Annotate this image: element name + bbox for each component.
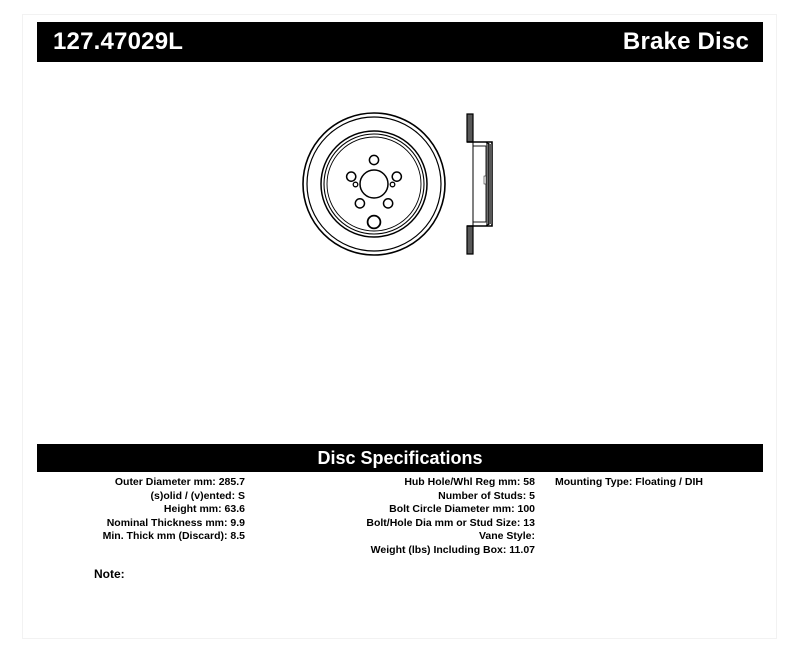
spec-table: Outer Diameter mm: 285.7 (s)olid / (v)en… <box>37 476 763 596</box>
spec-row: Vane Style: <box>263 530 535 544</box>
spec-column-middle: Hub Hole/Whl Reg mm: 58 Number of Studs:… <box>263 476 535 558</box>
title-bar: 127.47029L Brake Disc <box>37 22 763 62</box>
spec-row: Min. Thick mm (Discard): 8.5 <box>37 530 245 544</box>
spec-row: Mounting Type: Floating / DIH <box>555 476 763 490</box>
spec-row: Weight (lbs) Including Box: 11.07 <box>263 544 535 558</box>
spec-row: Height mm: 63.6 <box>37 503 245 517</box>
spec-row: Outer Diameter mm: 285.7 <box>37 476 245 490</box>
spec-row: Bolt Circle Diameter mm: 100 <box>263 503 535 517</box>
spec-column-right: Mounting Type: Floating / DIH <box>555 476 763 490</box>
spec-row: (s)olid / (v)ented: S <box>37 490 245 504</box>
part-number-label: 127.47029L <box>53 30 183 54</box>
spec-row: Bolt/Hole Dia mm or Stud Size: 13 <box>263 517 535 531</box>
technical-drawing <box>37 80 763 430</box>
spec-row: Number of Studs: 5 <box>263 490 535 504</box>
product-type-label: Brake Disc <box>623 30 749 54</box>
spec-section-title: Disc Specifications <box>317 449 482 467</box>
brake-disc-face-view <box>303 113 445 255</box>
spec-sheet-page: 127.47029L Brake Disc <box>0 0 800 655</box>
brake-disc-drawing-svg <box>37 80 763 430</box>
note-label: Note: <box>94 568 125 580</box>
brake-disc-edge-view <box>467 114 492 254</box>
spec-section-header: Disc Specifications <box>37 444 763 472</box>
spec-row: Hub Hole/Whl Reg mm: 58 <box>263 476 535 490</box>
spec-row: Nominal Thickness mm: 9.9 <box>37 517 245 531</box>
spec-column-left: Outer Diameter mm: 285.7 (s)olid / (v)en… <box>37 476 245 544</box>
